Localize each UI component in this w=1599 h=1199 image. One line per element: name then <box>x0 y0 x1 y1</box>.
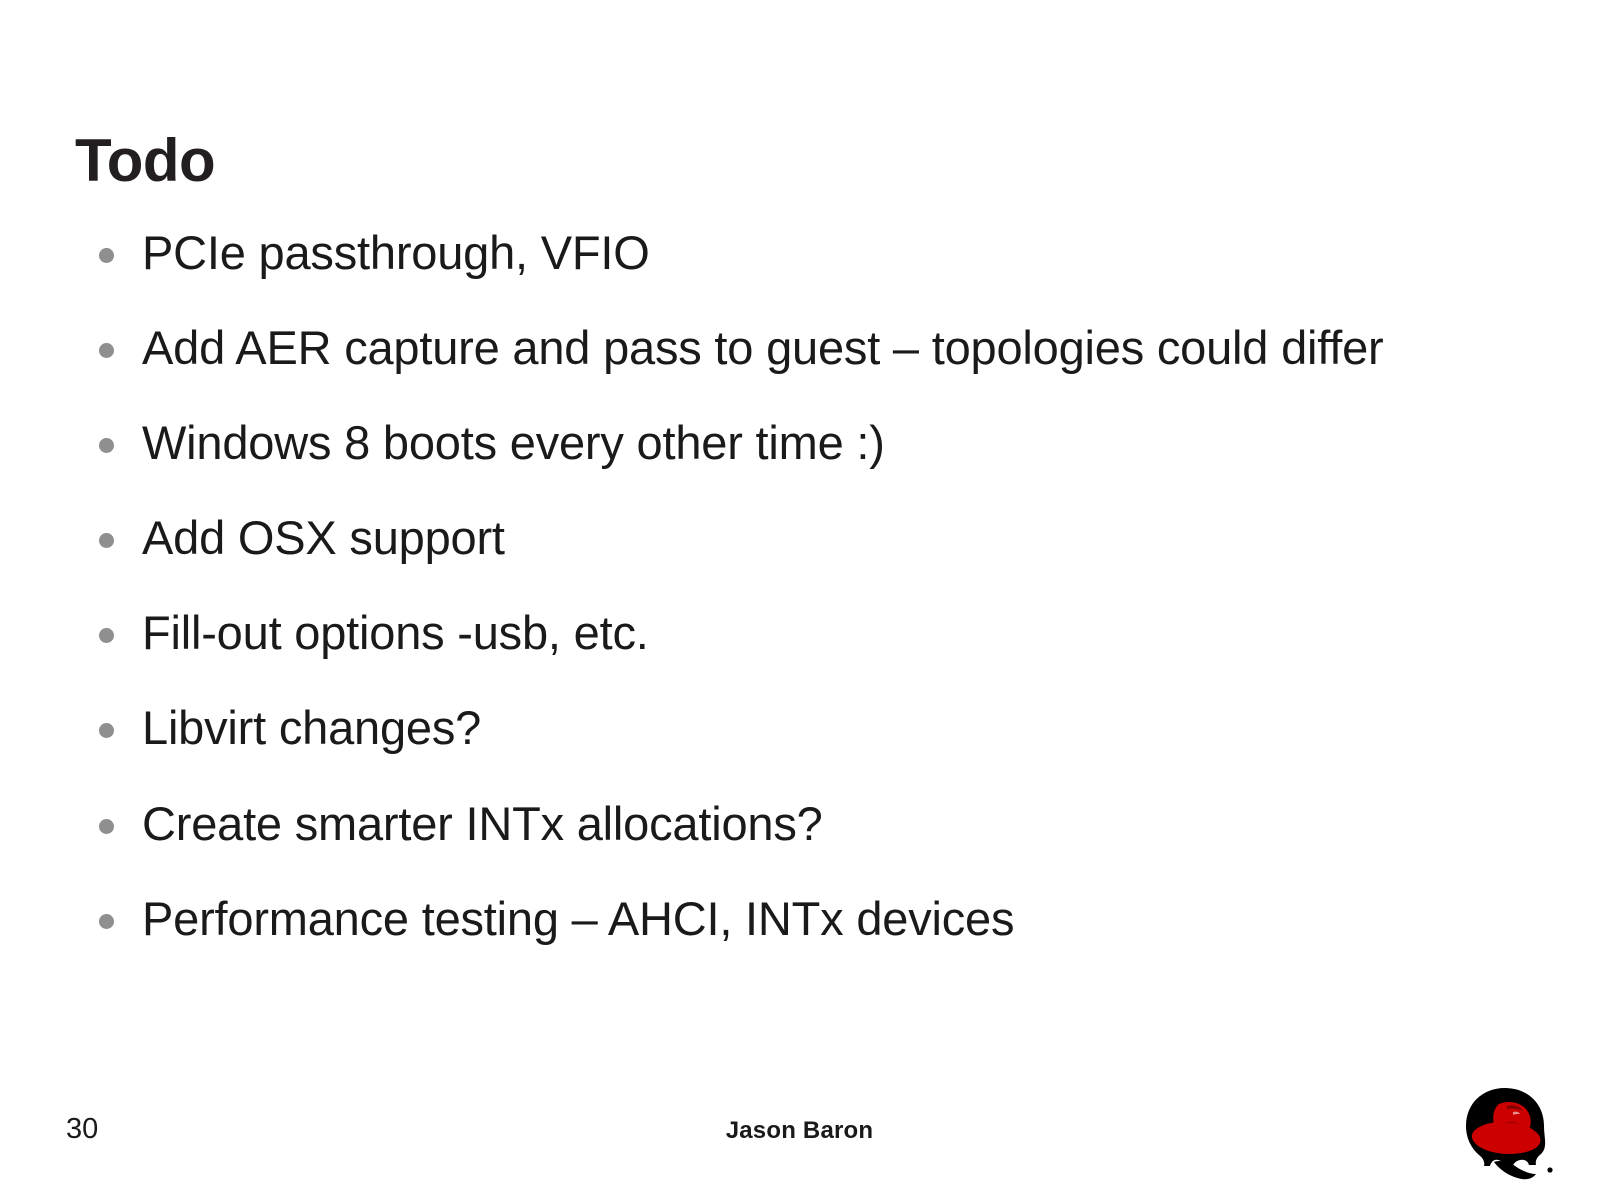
list-item: Windows 8 boots every other time :) <box>88 412 1508 473</box>
list-item-label: Add AER capture and pass to guest – topo… <box>142 317 1508 378</box>
list-item-label: Fill-out options -usb, etc. <box>142 602 1508 663</box>
bullet-dot-icon <box>99 914 114 929</box>
list-item: Create smarter INTx allocations? <box>88 793 1508 854</box>
list-item-label: Add OSX support <box>142 507 1508 568</box>
list-item: Performance testing – AHCI, INTx devices <box>88 888 1508 949</box>
bullet-list: PCIe passthrough, VFIO Add AER capture a… <box>88 222 1508 949</box>
list-item: Add AER capture and pass to guest – topo… <box>88 317 1508 378</box>
bullet-dot-icon <box>99 723 114 738</box>
bullet-dot-icon <box>99 533 114 548</box>
bullet-dot-icon <box>99 248 114 263</box>
list-item-label: Windows 8 boots every other time :) <box>142 412 1508 473</box>
list-item: PCIe passthrough, VFIO <box>88 222 1508 283</box>
slide-canvas: Todo PCIe passthrough, VFIO Add AER capt… <box>0 0 1599 1199</box>
list-item: Add OSX support <box>88 507 1508 568</box>
list-item: Libvirt changes? <box>88 697 1508 758</box>
list-item-label: PCIe passthrough, VFIO <box>142 222 1508 283</box>
bullet-dot-icon <box>99 628 114 643</box>
bullet-dot-icon <box>99 438 114 453</box>
page-title: Todo <box>75 129 215 192</box>
bullet-dot-icon <box>99 819 114 834</box>
list-item-label: Performance testing – AHCI, INTx devices <box>142 888 1508 949</box>
presenter-name: Jason Baron <box>0 1117 1599 1145</box>
red-hat-shadowman-logo <box>1450 1082 1560 1186</box>
list-item-label: Create smarter INTx allocations? <box>142 793 1508 854</box>
list-item-label: Libvirt changes? <box>142 697 1508 758</box>
bullet-dot-icon <box>99 343 114 358</box>
list-item: Fill-out options -usb, etc. <box>88 602 1508 663</box>
